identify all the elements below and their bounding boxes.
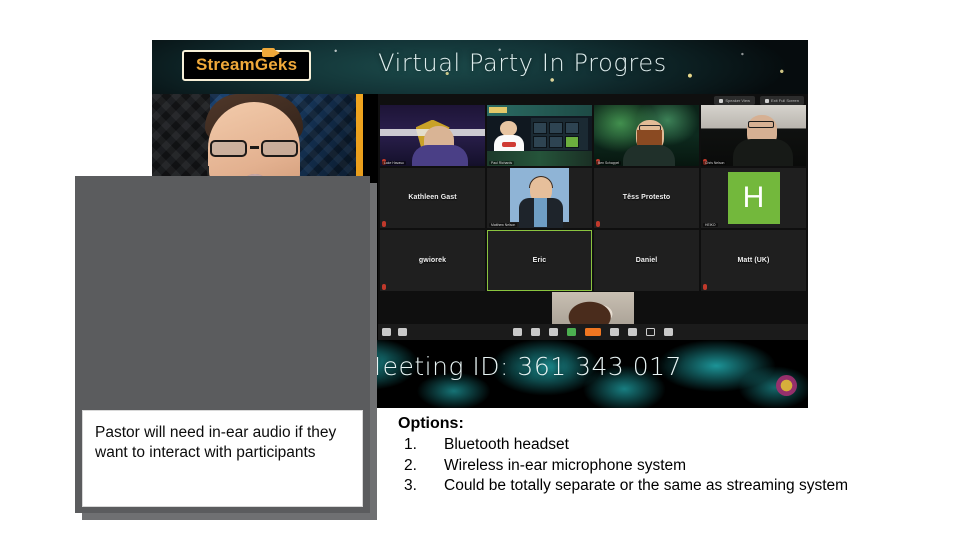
list-item-text: Wireless in-ear microphone system <box>444 456 868 477</box>
stream-banner: StreamGeks Virtual Party In Progres <box>152 40 808 94</box>
speaker-view-button[interactable]: Speaker View <box>714 96 755 105</box>
participant-name: Eric <box>533 257 547 264</box>
list-item-number: 2. <box>404 456 444 477</box>
options-title: Options: <box>398 415 868 433</box>
options-list: 1. Bluetooth headset 2. Wireless in-ear … <box>398 435 868 497</box>
participant-tile[interactable]: Lake Havasu <box>380 105 485 166</box>
stop-video-icon[interactable] <box>398 328 407 336</box>
tile-video <box>701 105 806 166</box>
chat-icon[interactable] <box>610 328 619 336</box>
participant-name: Têss Protesto <box>623 194 671 201</box>
reactions-icon[interactable] <box>664 328 673 336</box>
participant-name: gwiorek <box>419 257 446 264</box>
participant-name: Ben Schappel <box>596 161 621 165</box>
tile-video <box>487 168 592 229</box>
slide-canvas: StreamGeks Virtual Party In Progres You … <box>0 0 960 540</box>
exit-fullscreen-button[interactable]: Exit Full Screen <box>760 96 804 105</box>
tile-screenshare <box>487 105 592 166</box>
list-item-number: 1. <box>404 435 444 456</box>
caption-box: Pastor will need in-ear audio if they wa… <box>82 410 363 507</box>
participant-name: Paul Richards <box>489 161 514 165</box>
participant-grid: Lake Havasu Paul Richards Ben Schappel <box>380 105 806 291</box>
muted-mic-icon <box>596 221 600 227</box>
participant-tile[interactable]: gwiorek <box>380 230 485 291</box>
record-icon[interactable] <box>628 328 637 336</box>
participant-tile[interactable]: Paul Richards <box>487 105 592 166</box>
participant-name: Lake Havasu <box>382 161 406 165</box>
list-item: 1. Bluetooth headset <box>404 435 868 456</box>
participant-tile[interactable]: Matt (UK) <box>701 230 806 291</box>
participant-tile[interactable]: Kathleen Gast <box>380 168 485 229</box>
participant-tile[interactable]: Ben Schappel <box>594 105 699 166</box>
avatar: H <box>728 172 780 224</box>
participant-tile[interactable]: H HEIKO <box>701 168 806 229</box>
zoom-toolbar-left <box>382 328 407 336</box>
participant-name: Kathleen Gast <box>408 194 456 201</box>
participant-tile[interactable]: Matthew Nelson <box>487 168 592 229</box>
participant-name: Chris Nelson <box>703 161 726 165</box>
muted-mic-icon <box>382 284 386 290</box>
manage-participants-icon[interactable] <box>531 328 540 336</box>
participant-name: Matt (UK) <box>737 257 769 264</box>
list-item: 2. Wireless in-ear microphone system <box>404 456 868 477</box>
zoom-toolbar <box>378 324 808 340</box>
participant-tile[interactable]: Têss Protesto <box>594 168 699 229</box>
participants-icon[interactable] <box>513 328 522 336</box>
sponsor-badge-icon <box>776 375 797 396</box>
muted-mic-icon <box>703 284 707 290</box>
muted-mic-icon <box>382 221 386 227</box>
zoom-topbar: Speaker View Exit Full Screen <box>714 96 804 105</box>
tile-video <box>594 105 699 166</box>
list-item-text: Could be totally separate or the same as… <box>444 476 868 497</box>
participant-tile[interactable]: Daniel <box>594 230 699 291</box>
banner-title: Virtual Party In Progres <box>152 49 808 77</box>
breakout-rooms-icon[interactable] <box>646 328 655 336</box>
participant-tile[interactable]: Chris Nelson <box>701 105 806 166</box>
share-screen-icon[interactable] <box>567 328 576 336</box>
options-block: Options: 1. Bluetooth headset 2. Wireles… <box>398 415 868 497</box>
fullscreen-icon <box>765 99 769 103</box>
mute-icon[interactable] <box>382 328 391 336</box>
grid-icon <box>719 99 723 103</box>
stop-share-icon[interactable] <box>585 328 601 336</box>
participant-name: Daniel <box>636 257 658 264</box>
participant-tile-active-speaker[interactable]: Eric <box>487 230 592 291</box>
participant-name: Matthew Nelson <box>489 223 517 227</box>
zoom-meeting-window: Speaker View Exit Full Screen Lake Havas… <box>378 94 808 340</box>
list-item-text: Bluetooth headset <box>444 435 868 456</box>
list-item: 3. Could be totally separate or the same… <box>404 476 868 497</box>
polls-icon[interactable] <box>549 328 558 336</box>
tile-video <box>380 105 485 166</box>
participant-name: HEIKO <box>703 223 718 227</box>
list-item-number: 3. <box>404 476 444 497</box>
caption-text: Pastor will need in-ear audio if they wa… <box>95 423 352 464</box>
glasses-icon <box>208 140 300 157</box>
